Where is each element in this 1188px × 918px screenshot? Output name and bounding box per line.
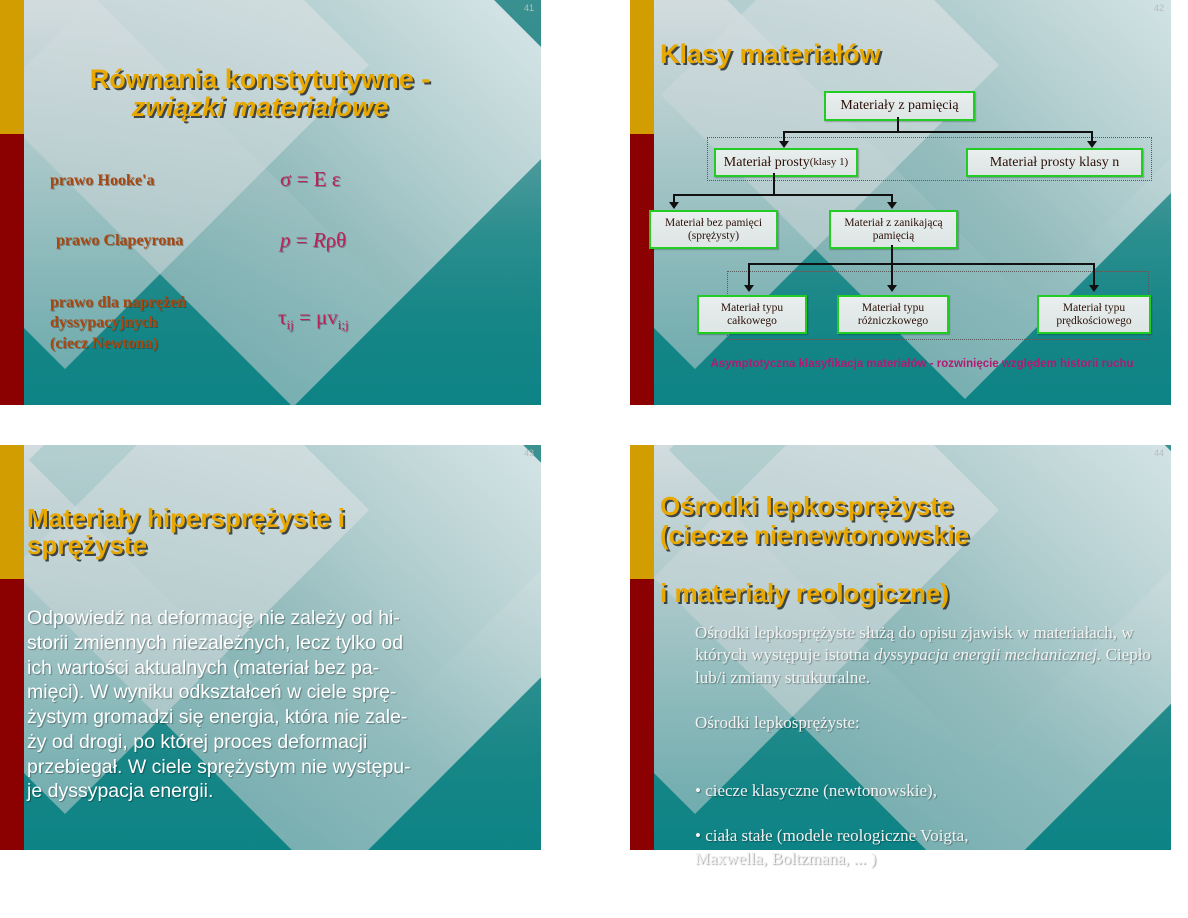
list-item: • ciecze klasyczne (newtonowskie), [695, 780, 1155, 803]
arrow-to-level3-left [669, 202, 679, 209]
box-label-suffix: (klasy 1) [810, 156, 848, 168]
arrow-to-level4-left [744, 285, 754, 292]
title-line-2: (ciecze nienewtonowskie [660, 521, 969, 550]
connector-l4-left-drop [748, 263, 750, 287]
diagram-box-rate-type[interactable]: Materiał typu prędkościowego [1037, 295, 1151, 334]
box-label: Materiał typu całkowego [721, 302, 783, 328]
box-label: Materiały z pamięcią [840, 98, 958, 114]
title-line-2: sprężyste [27, 532, 447, 560]
title-line-2: związki materiałowe [40, 93, 480, 122]
page-title-43: Materiały hipersprężyste i sprężyste [27, 477, 447, 587]
gold-band [630, 445, 654, 579]
left-color-band [0, 0, 24, 405]
box-label: Materiał prosty [724, 155, 810, 171]
slide-42[interactable]: 42 Klasy materiałów Materiały z pamięcią… [630, 0, 1171, 405]
diagram-box-integral-type[interactable]: Materiał typu całkowego [697, 295, 807, 334]
diagram-box-no-memory[interactable]: Materiał bez pamięci (sprężysty) [649, 210, 778, 249]
law-label-clapeyron: prawo Clapeyrona [56, 231, 183, 251]
connector-l4-right-drop [1093, 263, 1095, 287]
page-number: 41 [524, 3, 534, 13]
box-label: Materiał z zanikającą pamięcią [844, 217, 942, 243]
gold-band [630, 0, 654, 134]
page-number: 42 [1154, 3, 1164, 13]
para-text-italic: dyssypacja energii mechanicznej. [874, 645, 1101, 664]
law-label-hooke: prawo Hooke'a [50, 171, 154, 191]
arrow-to-level4-mid [887, 285, 897, 292]
slide-43-body: Odpowiedź na deformację nie zależy od hi… [27, 606, 507, 804]
red-band [0, 579, 24, 850]
red-band [0, 134, 24, 405]
material-classes-diagram: Materiały z pamięcią Materiał prosty (kl… [654, 88, 1171, 388]
title-line-1: Równania konstytutywne - [90, 64, 431, 94]
left-color-band [630, 445, 654, 850]
diagram-box-simple-material-classn[interactable]: Materiał prosty klasy n [966, 148, 1143, 177]
title-line-1: Materiały hipersprężyste i [27, 503, 345, 533]
diagram-box-root[interactable]: Materiały z pamięcią [824, 91, 975, 121]
slide-44-paragraph-1: Ośrodki lepkosprężyste służą do opisu zj… [695, 622, 1155, 690]
gold-band [0, 0, 24, 134]
formula-clapeyron: p = Rρθ [280, 228, 346, 253]
arrow-to-level3-right [887, 202, 897, 209]
left-color-band [0, 445, 24, 850]
law-label-dissipative: prawo dla naprężeń dyssypacyjnych (ciecz… [50, 293, 186, 354]
diagram-box-differential-type[interactable]: Materiał typu różniczkowego [837, 295, 949, 334]
slide-sheet: 41 Równania konstytutywne - związki mate… [0, 0, 1188, 918]
diagram-box-fading-memory[interactable]: Materiał z zanikającą pamięcią [829, 210, 958, 249]
title-line-1: Ośrodki lepkosprężyste [660, 491, 953, 521]
arrow-to-level4-right [1089, 285, 1099, 292]
connector-root-bus [783, 131, 1093, 133]
box-label: Materiał bez pamięci (sprężysty) [665, 217, 762, 243]
red-band [630, 579, 654, 850]
slide-44-bullet-list: • ciecze klasyczne (newtonowskie), • cia… [695, 757, 1155, 893]
slide-44-body: Ośrodki lepkosprężyste służą do opisu zj… [695, 599, 1155, 916]
page-number: 43 [524, 448, 534, 458]
red-band [630, 134, 654, 405]
page-title: Klasy materiałów [660, 40, 881, 69]
gold-band [0, 445, 24, 579]
list-item: • ciała stałe (modele reologiczne Voigta… [695, 825, 1155, 870]
connector-root-stem [897, 117, 899, 132]
connector-l2-bus [673, 194, 893, 196]
box-label: Materiał typu różniczkowego [858, 302, 928, 328]
page-title: Równania konstytutywne - związki materia… [40, 36, 480, 150]
slide-44-paragraph-2: Ośrodki lepkosprężyste: [695, 712, 1155, 735]
connector-l4-bus [748, 263, 1095, 265]
diagram-caption: Asymptotyczna klasyfikacja materiałów - … [654, 358, 1171, 370]
box-label: Materiał typu prędkościowego [1056, 302, 1131, 328]
box-label: Materiał prosty klasy n [990, 155, 1119, 171]
slide-41[interactable]: 41 Równania konstytutywne - związki mate… [0, 0, 541, 405]
diagram-box-simple-material-class1[interactable]: Materiał prosty (klasy 1) [714, 148, 858, 177]
connector-l2-stem [773, 173, 775, 195]
formula-dissipative: τij = μvi;j [278, 305, 349, 333]
page-number: 44 [1154, 448, 1164, 458]
connector-l3-stem [891, 245, 893, 290]
left-color-band [630, 0, 654, 405]
formula-hooke: σ = E ε [280, 167, 341, 192]
arrow-to-level2-right [1087, 141, 1097, 148]
arrow-to-level2-left [779, 141, 789, 148]
